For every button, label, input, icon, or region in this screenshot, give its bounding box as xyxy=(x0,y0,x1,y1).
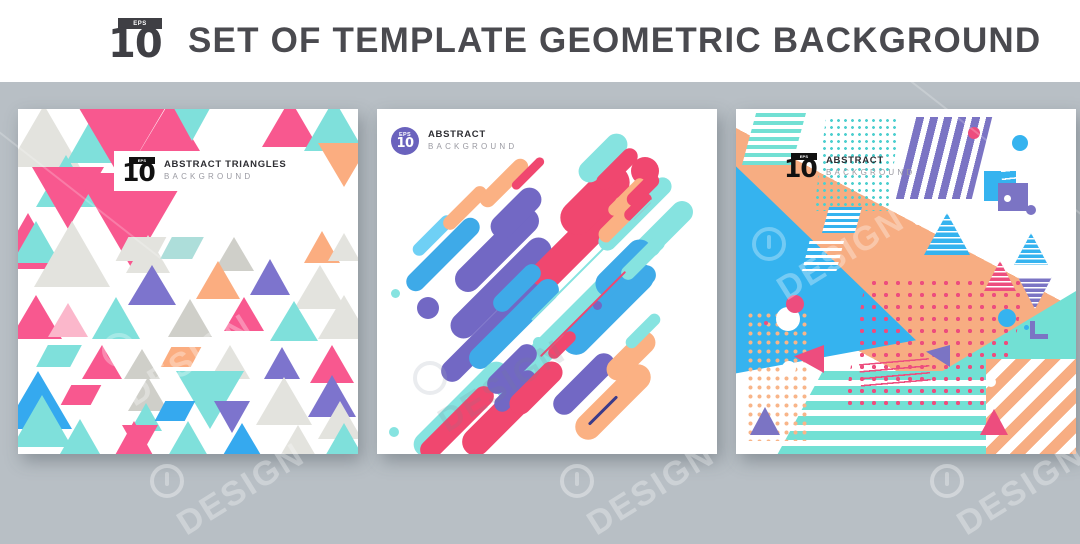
triangle-shape xyxy=(122,425,158,454)
circle-shape xyxy=(1024,325,1029,330)
triangle-shape xyxy=(264,347,300,379)
watermark-logo xyxy=(930,464,964,498)
circle-shape xyxy=(914,217,922,225)
circle-shape xyxy=(1012,135,1028,151)
wavy-lines-peach-area xyxy=(998,139,1071,180)
circle-shape xyxy=(764,321,768,325)
card-3-label-sub: BACKGROUND xyxy=(826,167,915,178)
triangle-shape xyxy=(276,425,320,454)
triangle-shape xyxy=(196,261,240,299)
triangle-shape xyxy=(328,233,358,261)
circle-shape xyxy=(533,337,544,348)
card-1-artwork: EPS 10 ABSTRACT TRIANGLES BACKGROUND DES… xyxy=(18,109,358,454)
eps10-badge-icon: EPS 10 xyxy=(784,153,817,181)
eps10-badge-icon: EPS 10 xyxy=(108,18,164,64)
triangle-shape xyxy=(168,299,212,337)
abstract-triangles-card[interactable]: EPS 10 ABSTRACT TRIANGLES BACKGROUND DES… xyxy=(18,109,358,454)
card-2-label-texts: ABSTRACT BACKGROUND xyxy=(428,129,517,152)
circle-shape xyxy=(391,289,400,298)
triangle-shape xyxy=(170,109,214,141)
triangle-shape xyxy=(320,423,358,454)
circle-shape xyxy=(786,295,804,313)
page-title: SET OF TEMPLATE GEOMETRIC BACKGROUND xyxy=(188,21,1041,61)
card-2-artwork: EPS 10 ABSTRACT BACKGROUND DESIGN xyxy=(377,109,717,454)
eps10-badge-icon: EPS 10 xyxy=(391,127,419,155)
header-inner: EPS 10 SET OF TEMPLATE GEOMETRIC BACKGRO… xyxy=(108,18,1041,64)
eps-version: 10 xyxy=(122,160,155,185)
watermark-logo xyxy=(150,464,184,498)
triangle-shape xyxy=(318,143,358,187)
circle-shape xyxy=(986,377,996,387)
circle-shape xyxy=(1026,205,1036,215)
triangle-shape xyxy=(48,303,88,337)
abstract-memphis-card[interactable]: EPS 10 ABSTRACT BACKGROUND DESIGN xyxy=(736,109,1076,454)
watermark-logo xyxy=(560,464,594,498)
triangle-shape xyxy=(164,421,212,454)
triangle-shape xyxy=(92,297,140,339)
card-3-label-texts: ABSTRACT BACKGROUND xyxy=(826,155,915,178)
card-3-label: EPS 10 ABSTRACT BACKGROUND xyxy=(784,153,915,181)
triangle-shape xyxy=(250,259,290,295)
eps10-badge-icon: EPS 10 xyxy=(122,157,155,185)
triangle-shape xyxy=(124,349,160,379)
circle-shape xyxy=(782,361,796,375)
eps-version: 10 xyxy=(784,156,817,181)
card-3-label-main: ABSTRACT xyxy=(826,155,915,167)
purple-square-shape xyxy=(998,183,1028,211)
parallelogram-shape xyxy=(36,345,82,367)
triangle-shape xyxy=(270,301,318,341)
page-header: EPS 10 SET OF TEMPLATE GEOMETRIC BACKGRO… xyxy=(0,0,1080,82)
card-2-label-sub: BACKGROUND xyxy=(428,141,517,152)
card-1-label-main: ABSTRACT TRIANGLES xyxy=(164,159,286,171)
card-2-label: EPS 10 ABSTRACT BACKGROUND xyxy=(391,127,517,155)
orange-dot-grid xyxy=(746,311,810,441)
card-1-label-sub: BACKGROUND xyxy=(164,171,286,182)
circle-shape xyxy=(389,427,399,437)
card-1-label-texts: ABSTRACT TRIANGLES BACKGROUND xyxy=(164,159,286,182)
eps-version: 10 xyxy=(396,138,413,150)
triangle-shape xyxy=(224,297,264,331)
triangle-shape xyxy=(82,345,122,379)
abstract-diagonal-card[interactable]: EPS 10 ABSTRACT BACKGROUND DESIGN xyxy=(377,109,717,454)
triangle-shape xyxy=(34,221,110,287)
triangle-shape xyxy=(56,419,104,454)
card-1-label: EPS 10 ABSTRACT TRIANGLES BACKGROUND xyxy=(122,157,286,185)
triangle-shape xyxy=(256,377,312,425)
circle-shape xyxy=(998,309,1016,327)
parallelogram-shape xyxy=(161,347,202,367)
card-3-artwork: EPS 10 ABSTRACT BACKGROUND DESIGN xyxy=(736,109,1076,454)
cards-stage: EPS 10 ABSTRACT TRIANGLES BACKGROUND DES… xyxy=(0,82,1080,504)
circle-shape xyxy=(1004,195,1011,202)
peach-stripes-bottom-right xyxy=(986,359,1076,454)
circle-shape xyxy=(968,127,980,139)
triangle-shape xyxy=(216,423,268,454)
purple-corner-bracket xyxy=(1030,321,1048,339)
card-2-label-main: ABSTRACT xyxy=(428,129,517,141)
eps-version: 10 xyxy=(108,24,164,64)
circle-shape xyxy=(417,297,439,319)
triangle-shape xyxy=(318,295,358,339)
